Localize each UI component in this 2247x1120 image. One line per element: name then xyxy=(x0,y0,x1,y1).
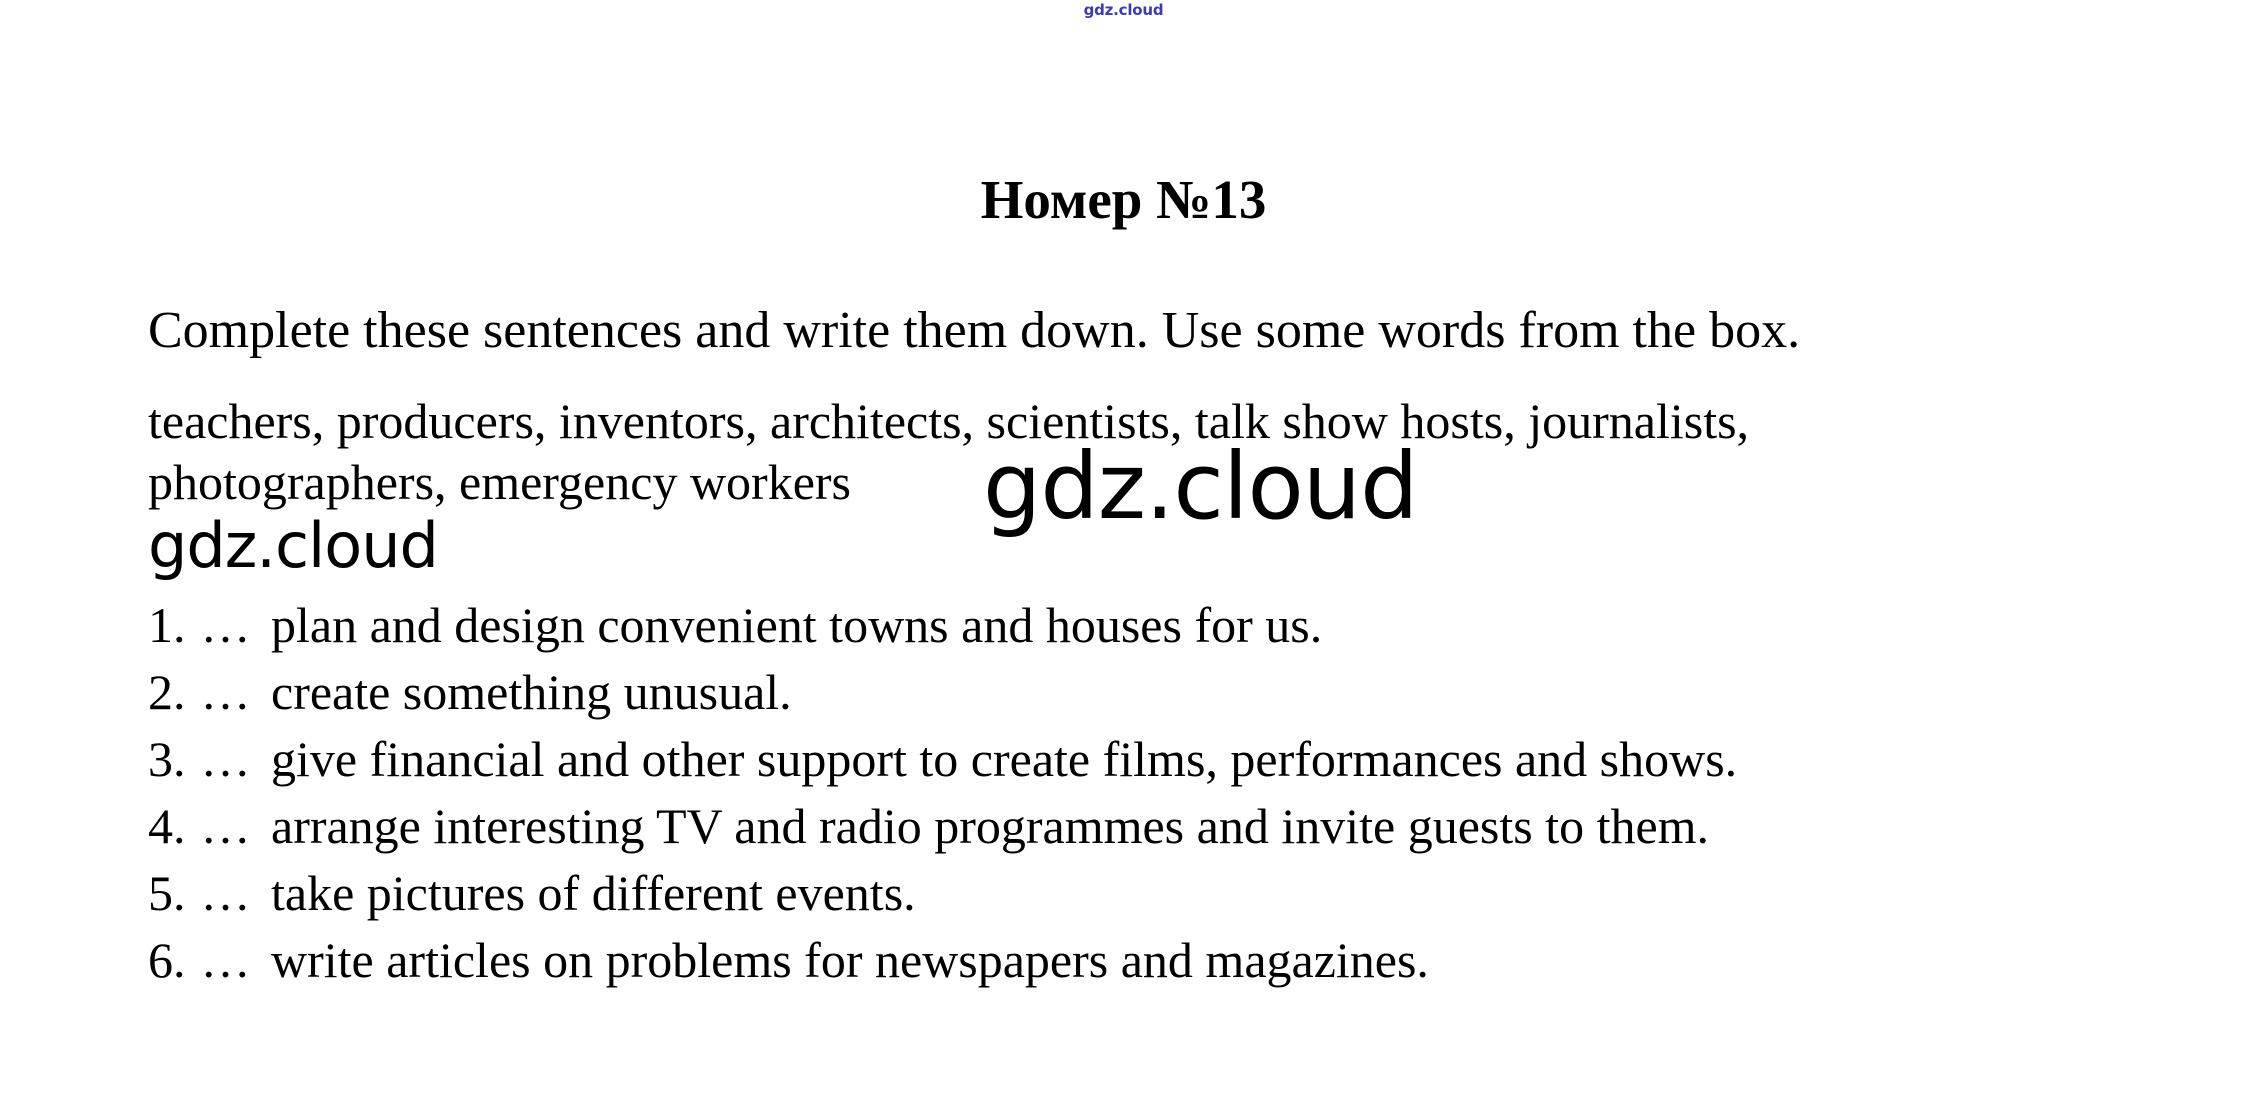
list-item-blank: … xyxy=(201,793,259,860)
list-item: 5. … take pictures of different events. xyxy=(148,860,2198,927)
list-item-text: plan and design convenient towns and hou… xyxy=(271,597,1322,653)
list-item: 4. … arrange interesting TV and radio pr… xyxy=(148,793,2198,860)
top-watermark-text: gdz.cloud xyxy=(0,0,2247,20)
list-item-number: 3. xyxy=(148,726,188,793)
list-item-blank: … xyxy=(201,592,259,659)
large-watermark-right: gdz.cloud xyxy=(983,441,1417,533)
list-item: 6. … write articles on problems for news… xyxy=(148,927,2198,994)
list-item: 3. … give financial and other support to… xyxy=(148,726,2198,793)
document-page: gdz.cloud Номер №13 Complete these sente… xyxy=(0,0,2247,1120)
list-item-blank: … xyxy=(201,726,259,793)
list-item-blank: … xyxy=(201,927,259,994)
list-item-blank: … xyxy=(201,860,259,927)
list-item-number: 6. xyxy=(148,927,188,994)
list-item-number: 4. xyxy=(148,793,188,860)
list-item-number: 1. xyxy=(148,592,188,659)
list-item: 2. … create something unusual. xyxy=(148,659,2198,726)
list-item-text: arrange interesting TV and radio program… xyxy=(271,798,1709,854)
list-item-blank: … xyxy=(201,659,259,726)
page-title: Номер №13 xyxy=(0,168,2247,232)
list-item-text: create something unusual. xyxy=(271,664,792,720)
list-item-text: give financial and other support to crea… xyxy=(271,731,1737,787)
sentence-list: 1. … plan and design convenient towns an… xyxy=(148,592,2198,994)
list-item-number: 2. xyxy=(148,659,188,726)
list-item-text: write articles on problems for newspaper… xyxy=(271,932,1429,988)
list-item-text: take pictures of different events. xyxy=(271,865,916,921)
list-item-number: 5. xyxy=(148,860,188,927)
large-watermark-left: gdz.cloud xyxy=(148,515,438,577)
list-item: 1. … plan and design convenient towns an… xyxy=(148,592,2198,659)
instruction-text: Complete these sentences and write them … xyxy=(148,300,2168,362)
